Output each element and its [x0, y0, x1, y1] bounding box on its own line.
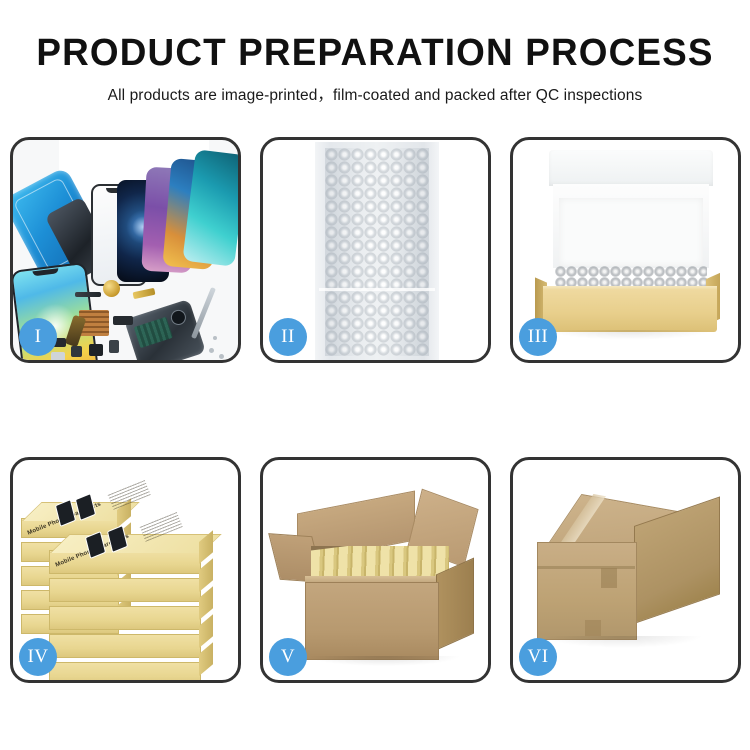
chip-part-icon	[113, 316, 133, 325]
page-subtitle: All products are image-printed，film-coat…	[0, 83, 750, 105]
bubble-wrap-shading	[325, 148, 429, 356]
sim-tray-icon	[51, 352, 65, 360]
stacked-box	[49, 662, 201, 680]
bubble-wrap-seam	[319, 288, 435, 291]
carton-seam	[537, 566, 635, 569]
stacked-box	[49, 578, 201, 602]
step-panel-i: I	[10, 137, 241, 363]
page-header: PRODUCT PREPARATION PROCESS All products…	[0, 0, 750, 105]
step-panel-iii: III	[510, 137, 741, 363]
stacked-box	[49, 634, 201, 658]
box-shadow	[547, 330, 713, 340]
carton-front-wall	[305, 582, 439, 660]
chip-part-icon	[109, 340, 119, 353]
camera-ring-icon	[169, 308, 188, 327]
chip-part-icon	[71, 346, 82, 357]
step-badge-iv: IV	[19, 638, 57, 676]
box-inner-liner	[559, 198, 703, 266]
step-panel-ii: II	[260, 137, 491, 363]
carton-tab	[585, 620, 601, 636]
step-panel-iv: Mobile Phone Spare Parts Mobile Phone Sp…	[10, 457, 241, 683]
stacked-box	[49, 606, 201, 630]
step-badge-v: V	[269, 638, 307, 676]
step-badge-i: I	[19, 318, 57, 356]
box-front-wall	[543, 290, 717, 332]
page-title: PRODUCT PREPARATION PROCESS	[11, 34, 739, 74]
gold-connector-icon	[133, 288, 156, 299]
process-steps-grid: I II III	[10, 137, 740, 683]
box-lid	[50, 534, 222, 553]
screwdriver-icon	[191, 287, 216, 339]
coil-part-icon	[103, 280, 120, 297]
carton-shadow	[309, 656, 459, 666]
carton-tab	[601, 568, 617, 588]
carton-side-wall	[436, 558, 474, 651]
box-side	[199, 642, 213, 676]
step-badge-vi: VI	[519, 638, 557, 676]
carton-shadow	[543, 636, 703, 648]
screw-icon	[219, 354, 224, 359]
logic-board-icon	[134, 317, 173, 348]
screw-icon	[209, 348, 214, 353]
step-panel-vi: VI	[510, 457, 741, 683]
step-badge-iii: III	[519, 318, 557, 356]
step-panel-v: V	[260, 457, 491, 683]
step-badge-ii: II	[269, 318, 307, 356]
chip-part-icon	[89, 344, 103, 356]
screw-icon	[213, 336, 217, 340]
box-lid-flap	[549, 150, 713, 186]
flex-cable-icon	[75, 292, 101, 297]
